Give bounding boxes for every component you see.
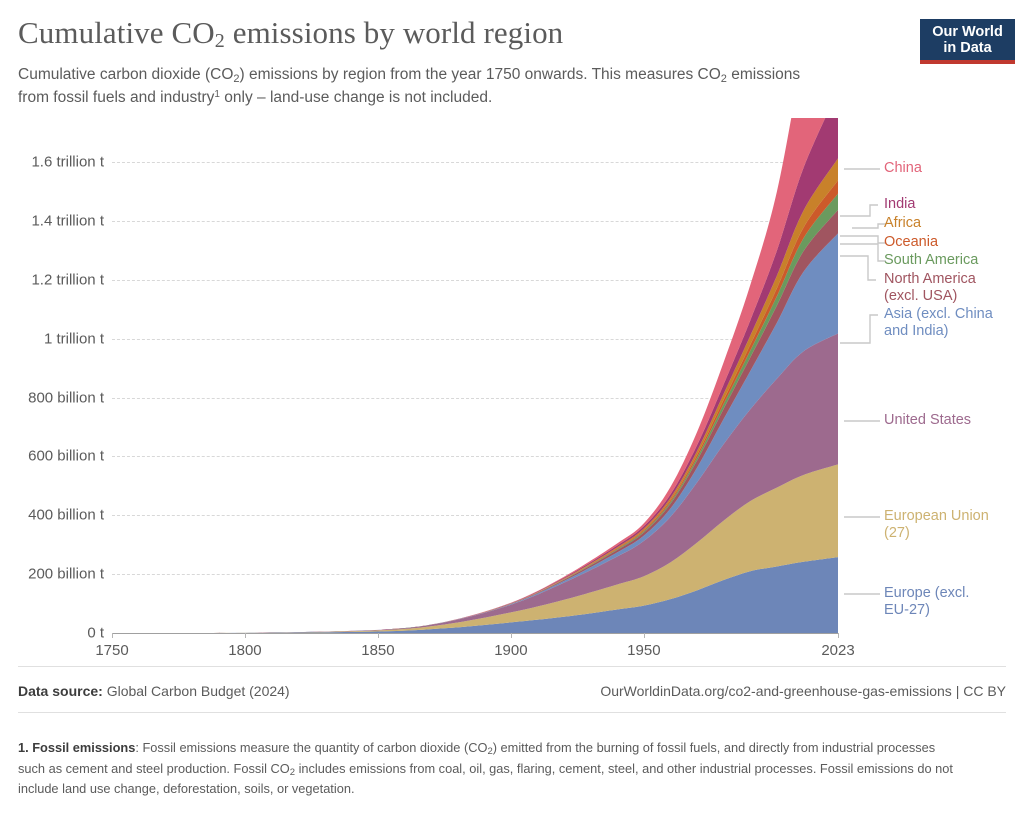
subtitle-subscript-2: 2 <box>721 73 727 85</box>
y-axis-tick-label: 200 billion t <box>28 566 104 583</box>
footer-divider-top <box>18 666 1006 667</box>
legend-label-european-union-27[interactable]: European Union (27) <box>884 508 989 542</box>
x-axis-tick-mark <box>245 633 246 638</box>
x-axis-tick-label: 1800 <box>228 642 261 659</box>
x-axis-tick-mark <box>644 633 645 638</box>
data-source-value: Global Carbon Budget (2024) <box>103 683 290 699</box>
owid-logo-line1: Our World <box>932 24 1003 40</box>
legend-label-europe-excl-eu-27[interactable]: Europe (excl. EU-27) <box>884 585 969 619</box>
y-axis-tick-label: 600 billion t <box>28 448 104 465</box>
footnote-subscript-2: 2 <box>290 767 295 778</box>
footnote: 1. Fossil emissions: Fossil emissions me… <box>18 739 958 799</box>
footnote-marker[interactable]: 1 <box>214 89 220 100</box>
subtitle-subscript-1: 2 <box>233 73 239 85</box>
x-axis-tick-label: 1750 <box>95 642 128 659</box>
legend-label-africa[interactable]: Africa <box>884 215 921 232</box>
y-axis-tick-label: 400 billion t <box>28 507 104 524</box>
data-source: Data source: Global Carbon Budget (2024) <box>18 683 290 699</box>
legend-label-china[interactable]: China <box>884 160 922 177</box>
legend-label-india[interactable]: India <box>884 196 915 213</box>
data-source-label: Data source: <box>18 683 103 699</box>
legend: Europe (excl. EU-27)European Union (27)U… <box>838 118 1024 638</box>
legend-label-south-america[interactable]: South America <box>884 252 978 269</box>
chart-footer: Data source: Global Carbon Budget (2024)… <box>18 683 1006 705</box>
y-axis-tick-label: 1.6 trillion t <box>31 154 104 171</box>
x-axis: 175018001850190019502023 <box>0 638 1024 666</box>
legend-label-asia-excl-china-and-india[interactable]: Asia (excl. China and India) <box>884 306 993 340</box>
source-url[interactable]: OurWorldinData.org/co2-and-greenhouse-ga… <box>600 683 1006 699</box>
x-axis-tick-mark <box>378 633 379 638</box>
footer-divider-bottom <box>18 712 1006 713</box>
x-axis-tick-mark <box>112 633 113 638</box>
y-axis-tick-label: 1 trillion t <box>44 330 104 347</box>
plot-area: 0 t200 billion t400 billion t600 billion… <box>0 118 1024 663</box>
x-axis-tick-mark <box>511 633 512 638</box>
x-axis-tick-label: 1900 <box>494 642 527 659</box>
y-axis-tick-label: 1.4 trillion t <box>31 213 104 230</box>
stacked-area-series <box>112 118 838 633</box>
footnote-title: 1. Fossil emissions <box>18 740 135 755</box>
y-axis: 0 t200 billion t400 billion t600 billion… <box>0 118 112 633</box>
x-axis-tick-label: 1850 <box>361 642 394 659</box>
chart-header: Cumulative CO2 emissions by world region… <box>18 14 898 111</box>
chart-subtitle: Cumulative carbon dioxide (CO2) emission… <box>18 64 818 111</box>
y-axis-tick-label: 800 billion t <box>28 389 104 406</box>
x-axis-tick-label: 2023 <box>821 642 854 659</box>
x-axis-tick-label: 1950 <box>627 642 660 659</box>
chart-page: Cumulative CO2 emissions by world region… <box>0 0 1024 815</box>
legend-label-north-america-excl-usa[interactable]: North America (excl. USA) <box>884 271 976 305</box>
owid-logo[interactable]: Our World in Data <box>920 19 1015 64</box>
y-axis-tick-label: 1.2 trillion t <box>31 271 104 288</box>
legend-label-united-states[interactable]: United States <box>884 412 971 429</box>
title-subscript: 2 <box>215 30 225 52</box>
page-title: Cumulative CO2 emissions by world region <box>18 14 898 56</box>
x-axis-line <box>112 633 838 634</box>
footnote-subscript-1: 2 <box>487 746 492 757</box>
owid-logo-line2: in Data <box>943 40 991 56</box>
legend-label-oceania[interactable]: Oceania <box>884 234 938 251</box>
